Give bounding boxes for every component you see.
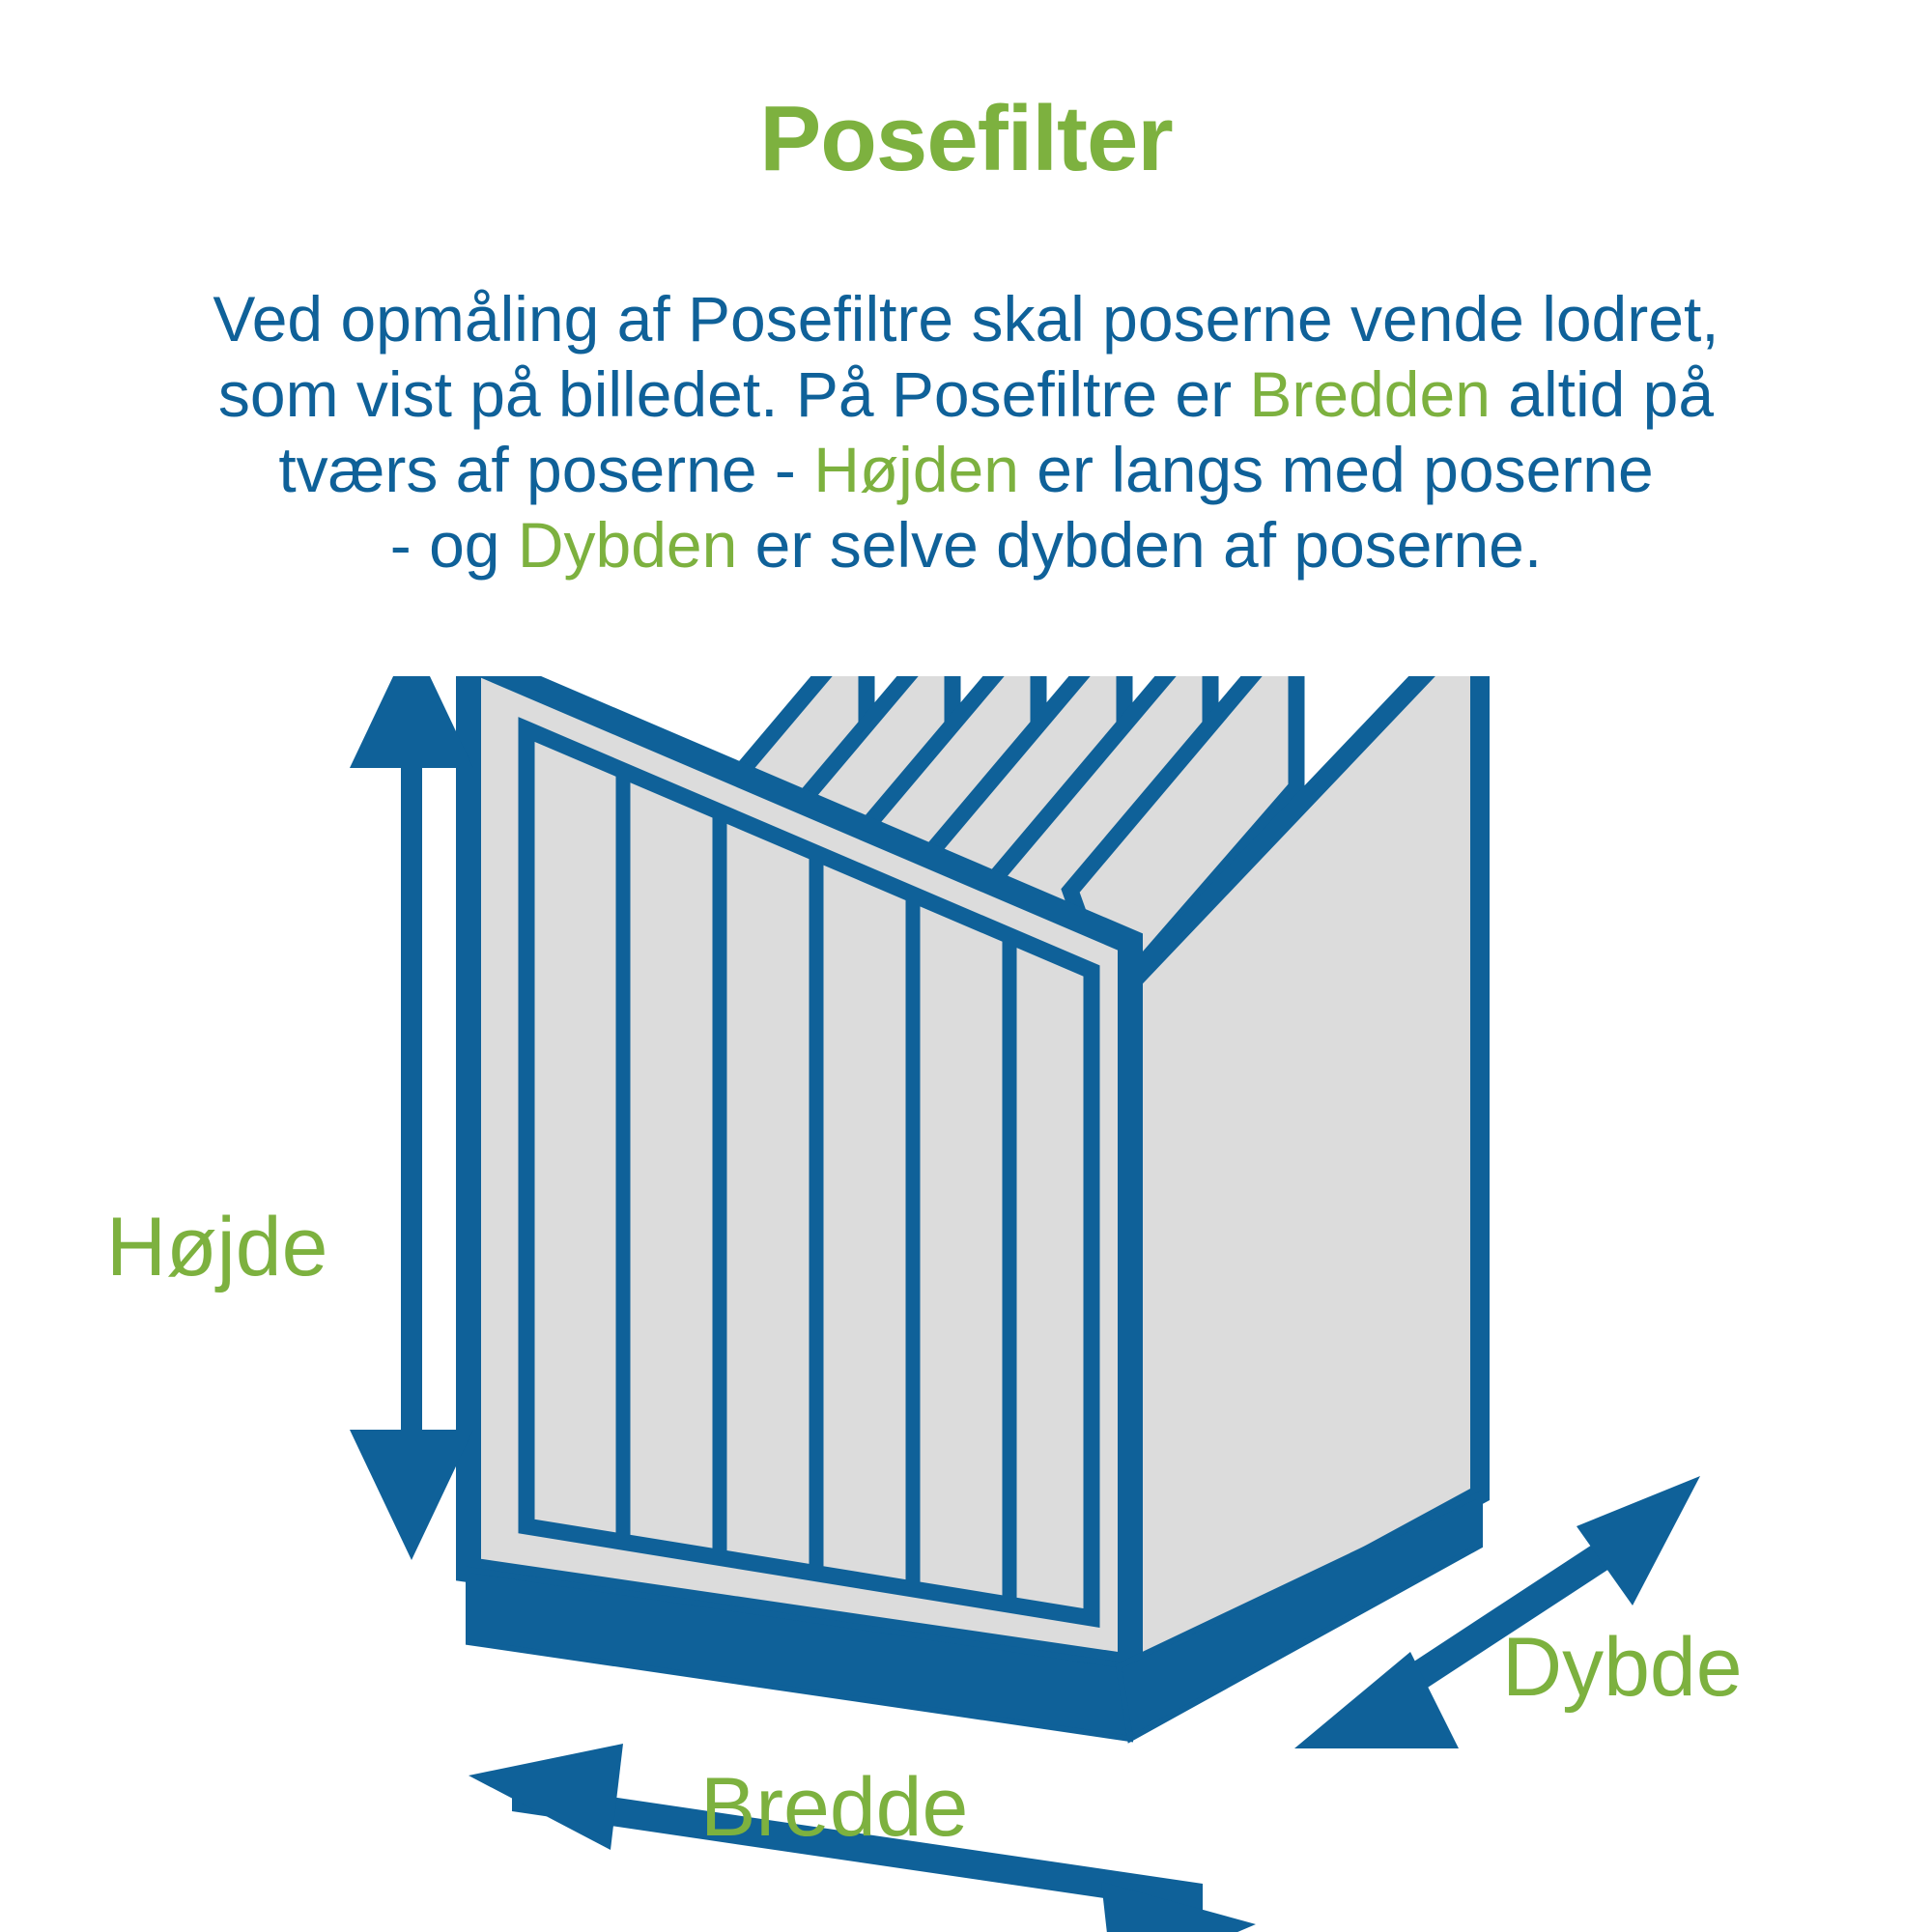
page-title: Posefilter xyxy=(0,93,1932,185)
poster-root: Posefilter Ved opmåling af Posefiltre sk… xyxy=(0,0,1932,1932)
intro-line-2: som vist på billedet. På Posefiltre er B… xyxy=(87,357,1845,433)
intro-line-4-pre: - og xyxy=(390,509,518,581)
intro-line-1-text: Ved opmåling af Posefiltre skal poserne … xyxy=(213,283,1719,355)
height-label: Højde xyxy=(106,1201,327,1293)
bag-filter-diagram: Højde Bredde Dybde xyxy=(0,676,1932,1932)
depth-label: Dybde xyxy=(1502,1621,1743,1714)
intro-line-3-pre: tværs af poserne - xyxy=(278,434,813,505)
intro-highlight-hojden: Højden xyxy=(813,434,1019,505)
intro-line-1: Ved opmåling af Posefiltre skal poserne … xyxy=(87,282,1845,357)
intro-line-3: tværs af poserne - Højden er langs med p… xyxy=(87,433,1845,508)
intro-highlight-dybden: Dybden xyxy=(518,509,738,581)
intro-highlight-bredden: Bredden xyxy=(1249,358,1491,430)
intro-line-2-post: altid på xyxy=(1491,358,1714,430)
height-arrow xyxy=(350,676,473,1560)
intro-line-2-pre: som vist på billedet. På Posefiltre er xyxy=(218,358,1249,430)
width-label: Bredde xyxy=(700,1761,968,1854)
intro-line-3-post: er langs med poserne xyxy=(1019,434,1654,505)
intro-line-4-post: er selve dybden af poserne. xyxy=(737,509,1542,581)
intro-line-4: - og Dybden er selve dybden af poserne. xyxy=(87,508,1845,583)
intro-paragraph: Ved opmåling af Posefiltre skal poserne … xyxy=(87,282,1845,583)
